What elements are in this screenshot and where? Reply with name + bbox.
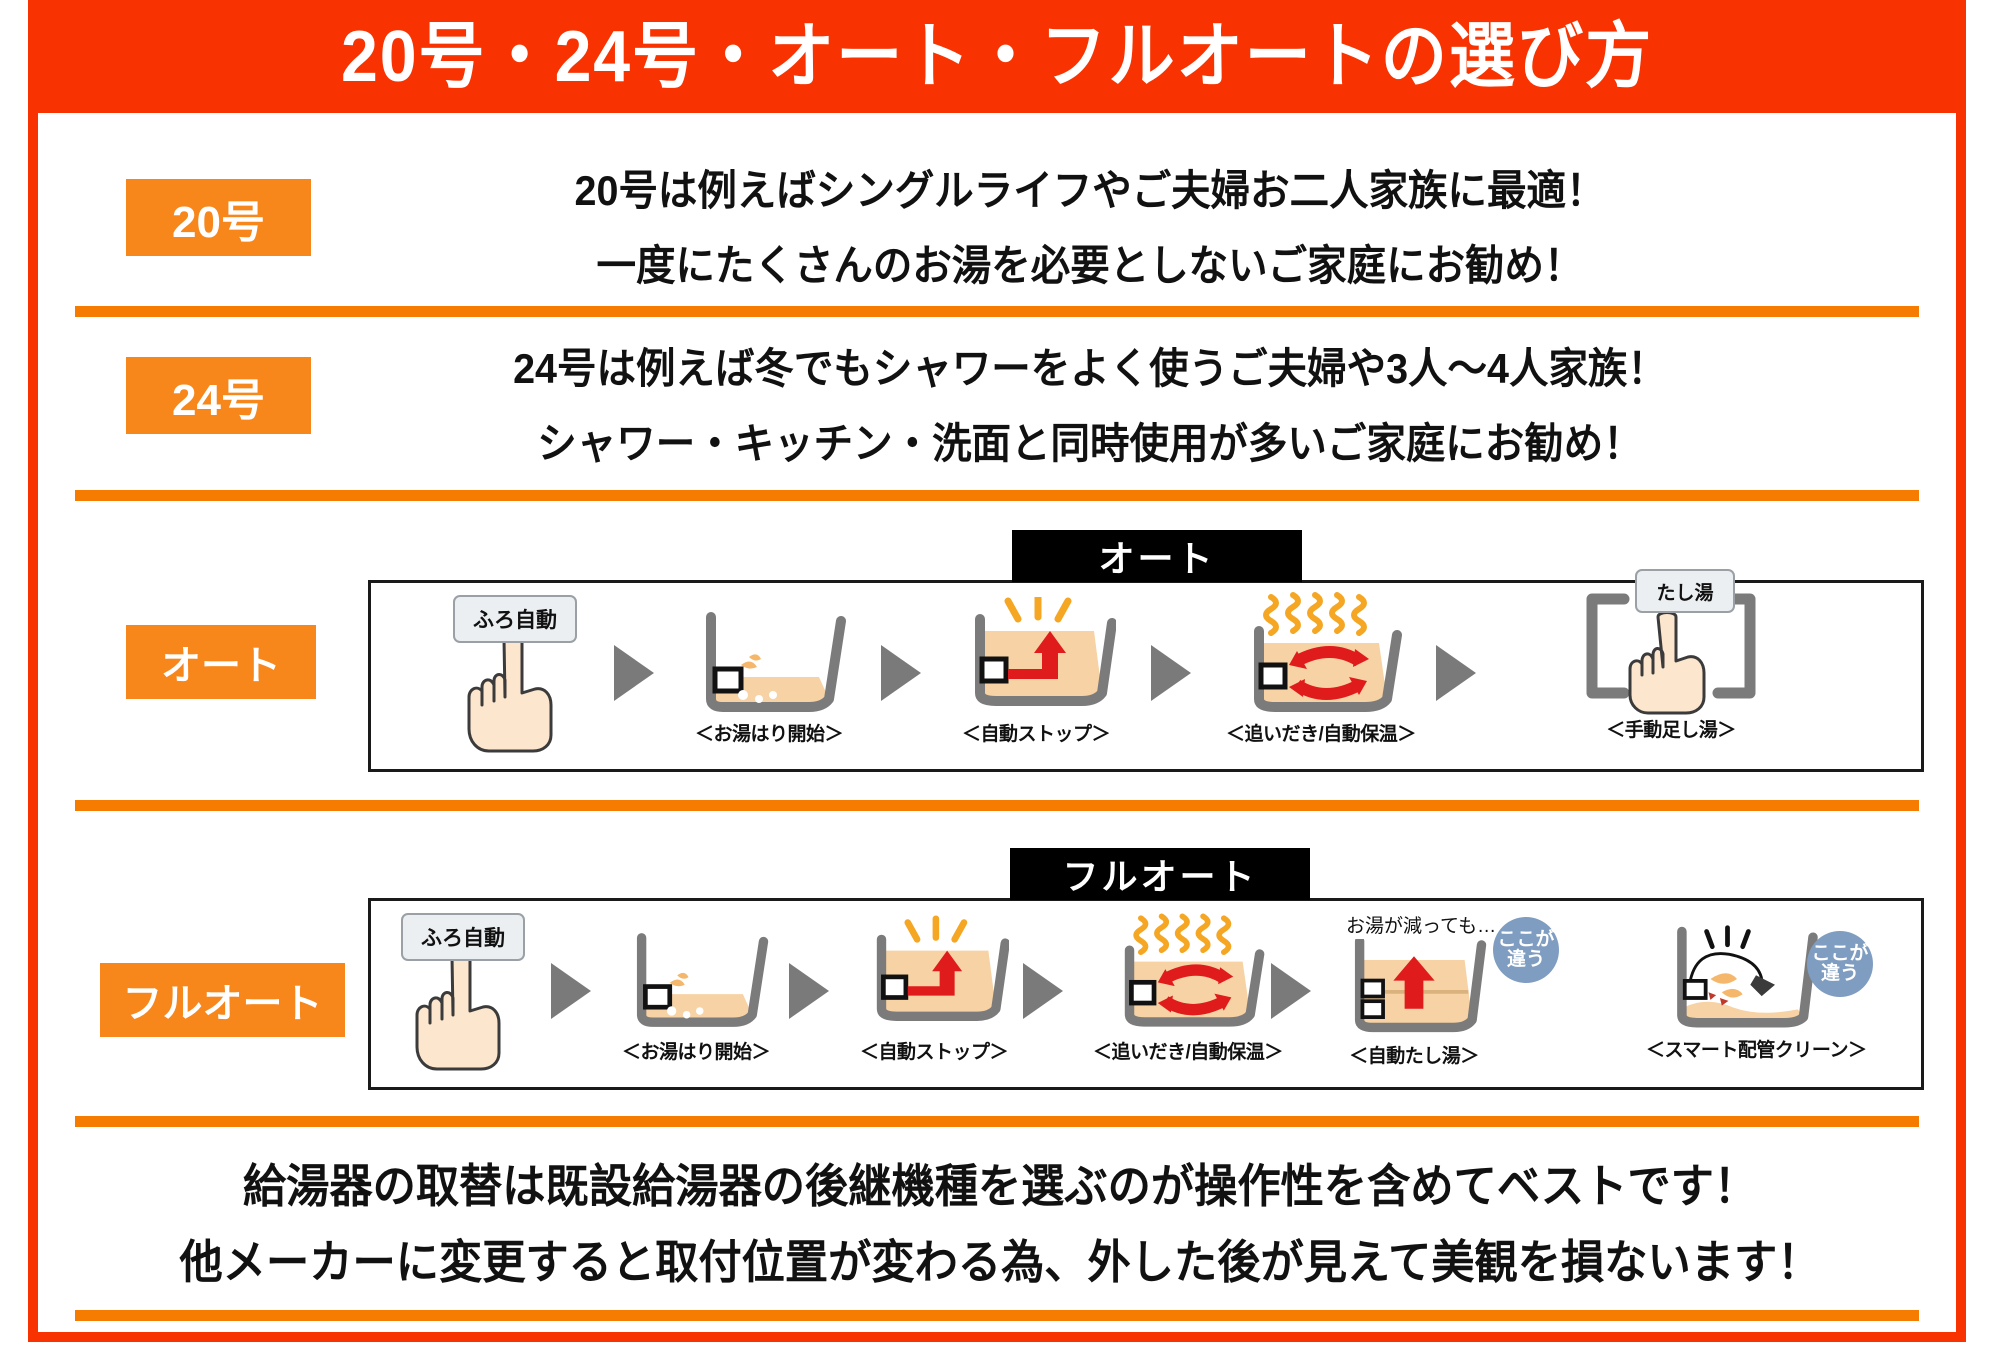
infographic-poster: 20号・24号・オート・フルオートの選び方 20号 20号は例えばシングルライフ… bbox=[0, 0, 1994, 1350]
bathtub-reheat-icon bbox=[1233, 589, 1408, 717]
badge-full-auto: フルオート bbox=[100, 963, 345, 1037]
furo-auto-key-label: ふろ自動 bbox=[473, 604, 557, 634]
separator-4 bbox=[75, 1116, 1919, 1127]
flow-arrow-1-auto bbox=[614, 645, 654, 701]
text-24go-line2: シャワー・キッチン・洗面と同時使用が多いご家庭にお勧め！ bbox=[460, 418, 1720, 469]
auto-diagram-panel: ふろ自動 ＜お湯はり開始＞ bbox=[368, 580, 1924, 772]
step-label-manual-refill-auto: ＜手動足し湯＞ bbox=[1606, 715, 1736, 742]
badge-full-auto-label: フルオート bbox=[123, 971, 323, 1029]
badge-24go: 24号 bbox=[126, 357, 311, 434]
step-auto-stop-full: ＜自動ストップ＞ bbox=[859, 915, 1009, 1064]
badge-24go-label: 24号 bbox=[172, 364, 265, 428]
step-label-reheat-auto: ＜追いだき/自動保温＞ bbox=[1226, 719, 1416, 746]
badge-auto-label: オート bbox=[161, 633, 281, 691]
ribbon-full-auto-label: フルオート bbox=[1062, 848, 1257, 900]
step-label-auto-refill-full: ＜自動たし湯＞ bbox=[1349, 1041, 1479, 1068]
flow-arrow-4-full bbox=[1271, 963, 1311, 1019]
ribbon-auto: オート bbox=[1012, 530, 1302, 582]
difference-badge-line1-b: ここが bbox=[1811, 944, 1868, 964]
bathtub-autostop-icon bbox=[956, 597, 1116, 717]
step-start-filling-auto: ＜お湯はり開始＞ bbox=[689, 607, 849, 746]
flow-arrow-3-auto bbox=[1151, 645, 1191, 701]
furo-auto-key-full[interactable]: ふろ自動 bbox=[401, 913, 525, 961]
text-20go-line2: 一度にたくさんのお湯を必要としないご家庭にお勧め！ bbox=[498, 240, 1682, 291]
difference-badge-line2-b: 違う bbox=[1821, 964, 1859, 984]
bathtub-autostop-icon bbox=[859, 915, 1009, 1035]
title-bar: 20号・24号・オート・フルオートの選び方 bbox=[28, 0, 1966, 113]
flow-arrow-1-full bbox=[551, 963, 591, 1019]
step-label-auto-stop-auto: ＜自動ストップ＞ bbox=[962, 719, 1110, 746]
tashiyu-key-label: たし湯 bbox=[1656, 578, 1713, 605]
footer-line-2: 他メーカーに変更すると取付位置が変わる為、外した後が見えて美観を損ないます！ bbox=[173, 1234, 1827, 1292]
text-20go-line1: 20号は例えばシングルライフやご夫婦お二人家族に最適！ bbox=[498, 165, 1682, 216]
flow-arrow-4-auto bbox=[1436, 645, 1476, 701]
footer-line-1: 給湯器の取替は既設給湯器の後継機種を選ぶのが操作性を含めてベストです！ bbox=[173, 1158, 1827, 1216]
page-title: 20号・24号・オート・フルオートの選び方 bbox=[341, 21, 1653, 93]
separator-5 bbox=[75, 1310, 1919, 1321]
bathtub-filling-icon bbox=[621, 925, 771, 1035]
furo-auto-key-auto[interactable]: ふろ自動 bbox=[453, 595, 577, 643]
step-label-reheat-full: ＜追いだき/自動保温＞ bbox=[1093, 1037, 1283, 1064]
step-reheat-auto: ＜追いだき/自動保温＞ bbox=[1226, 589, 1416, 746]
step-label-start-filling-full: ＜お湯はり開始＞ bbox=[622, 1037, 770, 1064]
separator-1 bbox=[75, 306, 1919, 317]
flow-arrow-2-auto bbox=[881, 645, 921, 701]
badge-20go-label: 20号 bbox=[172, 186, 265, 250]
step-label-start-filling-auto: ＜お湯はり開始＞ bbox=[695, 719, 843, 746]
bathtub-auto-refill-icon bbox=[1339, 939, 1489, 1039]
full-auto-diagram-panel: ふろ自動 ＜お湯はり開始＞ bbox=[368, 898, 1924, 1090]
step-label-auto-stop-full: ＜自動ストップ＞ bbox=[860, 1037, 1008, 1064]
step-auto-stop-auto: ＜自動ストップ＞ bbox=[956, 597, 1116, 746]
difference-badge-line1: ここが bbox=[1497, 930, 1554, 950]
badge-20go: 20号 bbox=[126, 179, 311, 256]
badge-auto: オート bbox=[126, 625, 316, 699]
water-decrease-note: お湯が減っても… bbox=[1346, 911, 1496, 938]
ribbon-full-auto: フルオート bbox=[1010, 848, 1310, 900]
furo-auto-key-label-full: ふろ自動 bbox=[421, 922, 505, 952]
step-label-smart-pipe-clean-full: ＜スマート配管クリーン＞ bbox=[1646, 1035, 1866, 1062]
bathtub-filling-icon bbox=[689, 607, 849, 717]
text-24go-line1: 24号は例えば冬でもシャワーをよく使うご夫婦や3人～4人家族！ bbox=[460, 343, 1720, 394]
difference-badge-pipe-clean: ここが 違う bbox=[1807, 931, 1873, 997]
ribbon-auto-label: オート bbox=[1098, 530, 1215, 582]
step-reheat-full: ＜追いだき/自動保温＞ bbox=[1093, 907, 1283, 1064]
separator-2 bbox=[75, 490, 1919, 501]
step-start-filling-full: ＜お湯はり開始＞ bbox=[621, 925, 771, 1064]
flow-arrow-3-full bbox=[1023, 963, 1063, 1019]
step-auto-refill-full: ＜自動たし湯＞ bbox=[1339, 939, 1489, 1068]
tashiyu-key-auto[interactable]: たし湯 bbox=[1635, 569, 1735, 613]
difference-badge-line2: 違う bbox=[1507, 950, 1545, 970]
difference-badge-auto-refill: ここが 違う bbox=[1493, 917, 1559, 983]
separator-3 bbox=[75, 800, 1919, 811]
bathtub-reheat-icon bbox=[1105, 907, 1270, 1035]
flow-arrow-2-full bbox=[789, 963, 829, 1019]
